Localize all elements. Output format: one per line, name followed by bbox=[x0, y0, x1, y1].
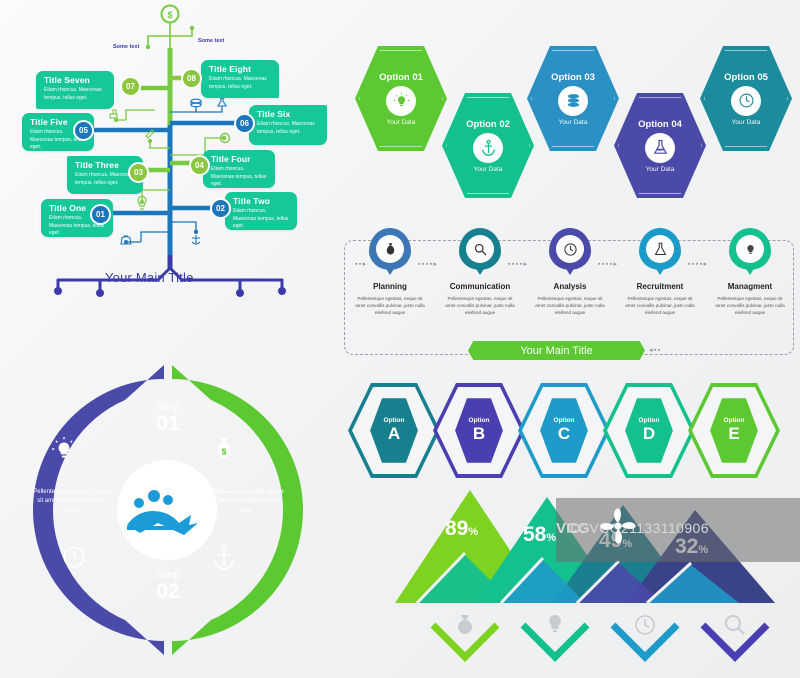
hex-label: Option 01 bbox=[379, 72, 423, 83]
tree-node-02[interactable]: 02 bbox=[210, 198, 231, 219]
tree-card-02[interactable]: Title Two Etiam rhoncus. Maecenas tempus… bbox=[225, 192, 297, 230]
hex-options-row: Option 01 Your Data Option 02 Your Data … bbox=[350, 38, 800, 198]
hex-letter: E bbox=[728, 425, 739, 443]
hex-letter-b[interactable]: Option B bbox=[433, 383, 525, 478]
flow-arrow: ▪▪▪▪▸ bbox=[508, 260, 528, 268]
tree-card-title: Title Three bbox=[75, 161, 136, 170]
process-step-name: Analysis bbox=[529, 282, 611, 291]
svg-text:$: $ bbox=[167, 10, 172, 20]
hex-sublabel: Your Data bbox=[732, 119, 761, 126]
tree-card-title: Title Seven bbox=[44, 76, 107, 85]
hex-option-5[interactable]: Option 05 Your Data bbox=[700, 46, 792, 151]
cycle-step-number: 02 bbox=[125, 581, 211, 603]
hex-letters-row: Option A Option B Option C Option D bbox=[348, 378, 800, 483]
tree-card-07[interactable]: Title Seven Etiam rhoncus. Maecenas temp… bbox=[36, 71, 114, 109]
hex-letter-e[interactable]: Option E bbox=[688, 383, 780, 478]
vcg-logo-icon bbox=[596, 504, 640, 548]
anchor-icon bbox=[473, 133, 503, 163]
process-step-desc: Pellentesque egestas, neque sit amet con… bbox=[532, 296, 608, 317]
flow-arrow: ▪▪▪▪▸ bbox=[418, 260, 438, 268]
hex-label: Option 02 bbox=[466, 119, 510, 130]
process-step-desc: Pellentesque egestas, neque sit amet con… bbox=[442, 296, 518, 317]
flow-arrow: ▪▪▪▪▸ bbox=[598, 260, 618, 268]
cycle-step-number: 01 bbox=[125, 413, 211, 435]
tree-label-right: Some text bbox=[198, 38, 224, 44]
lightbulb-icon bbox=[736, 235, 764, 263]
tree-node-07[interactable]: 07 bbox=[120, 76, 141, 97]
hex-letter: B bbox=[473, 425, 485, 443]
tree-card-body: Etiam rhoncus. Maecenas tempus, tellus e… bbox=[44, 87, 107, 102]
flask-icon bbox=[645, 133, 675, 163]
hex-option-4[interactable]: Option 04 Your Data bbox=[614, 93, 706, 198]
tree-node-04[interactable]: 04 bbox=[189, 155, 210, 176]
hex-letter-a[interactable]: Option A bbox=[348, 383, 440, 478]
money-bag-icon: $ bbox=[211, 436, 237, 467]
cycle-step-02[interactable]: Step 02 bbox=[125, 568, 211, 603]
process-pin-management[interactable] bbox=[729, 228, 771, 280]
hex-letter: A bbox=[388, 425, 400, 443]
tree-node-01[interactable]: 01 bbox=[90, 204, 111, 225]
chart-value-1: 89% bbox=[445, 517, 478, 541]
clock-icon bbox=[556, 235, 584, 263]
watermark-brand: VCG bbox=[556, 520, 590, 537]
hex-sublabel: Your Data bbox=[646, 166, 675, 173]
tree-node-05[interactable]: 05 bbox=[73, 120, 94, 141]
tree-card-04[interactable]: Title Four Etiam rhoncus. Maecenas tempu… bbox=[203, 150, 275, 188]
hex-label: Option 03 bbox=[551, 72, 595, 83]
chart-value-2: 58% bbox=[523, 523, 556, 547]
hex-sublabel: Your Data bbox=[559, 119, 588, 126]
hex-letter: D bbox=[643, 425, 655, 443]
tree-card-body: Etiam rhoncus. Maecenas tempus, tellus e… bbox=[209, 76, 272, 91]
flow-arrow: ▪▪▸ bbox=[355, 260, 368, 268]
process-step-desc: Pellentesque egestas, neque sit amet con… bbox=[352, 296, 428, 317]
hex-label: Option 05 bbox=[724, 72, 768, 83]
tree-card-title: Title Eight bbox=[209, 65, 272, 74]
money-bag-icon bbox=[376, 235, 404, 263]
process-step-name: Managment bbox=[709, 282, 791, 291]
tree-card-title: Title Two bbox=[233, 197, 290, 206]
clock-icon bbox=[731, 86, 761, 116]
tree-card-title: Title Six bbox=[257, 110, 320, 119]
hex-letter-c[interactable]: Option C bbox=[518, 383, 610, 478]
tree-main-title: Your Main Title bbox=[105, 270, 194, 285]
tree-card-title: Title Four bbox=[211, 155, 268, 164]
clock-icon bbox=[61, 544, 87, 575]
flow-arrow: ▪▪▪▪▸ bbox=[688, 260, 708, 268]
hex-option-3[interactable]: Option 03 Your Data bbox=[527, 46, 619, 151]
process-pin-recruitment[interactable] bbox=[639, 228, 681, 280]
svg-text:$: $ bbox=[222, 446, 227, 456]
process-step-desc: Pellentesque egestas, neque sit amet con… bbox=[622, 296, 698, 317]
process-main-banner[interactable]: Your Main Title bbox=[468, 341, 645, 360]
magnifier-icon bbox=[466, 235, 494, 263]
two-step-cycle: Step 01 Step 02 Pellentesque egestas, ne… bbox=[15, 360, 335, 660]
tree-node-06[interactable]: 06 bbox=[234, 113, 255, 134]
infographic-collection: $ bbox=[0, 0, 800, 678]
process-pin-communication[interactable] bbox=[459, 228, 501, 280]
cycle-step-01[interactable]: Step 01 bbox=[125, 400, 211, 435]
tree-infographic: $ bbox=[0, 0, 340, 300]
lightbulb-icon bbox=[386, 86, 416, 116]
hex-option-1[interactable]: Option 01 Your Data bbox=[355, 46, 447, 151]
hex-letter: C bbox=[558, 425, 570, 443]
tree-card-06[interactable]: Title Six Etiam rhoncus. Maecenas tempus… bbox=[249, 105, 327, 145]
tree-card-08[interactable]: Title Eight Etiam rhoncus. Maecenas temp… bbox=[201, 60, 279, 98]
cycle-text-right: Pellentesque egestas, neque sit amet con… bbox=[205, 488, 285, 516]
hex-sublabel: Your Data bbox=[474, 166, 503, 173]
hex-label: Option 04 bbox=[638, 119, 682, 130]
hex-letter-d[interactable]: Option D bbox=[603, 383, 695, 478]
anchor-icon bbox=[211, 544, 237, 575]
tree-card-body: Etiam rhoncus. Maecenas tempus, tellus e… bbox=[211, 166, 268, 188]
process-flow: ▪▪▸ ▪▪▪▪▸ ▪▪▪▪▸ ▪▪▪▪▸ ▪▪▪▪▸ Planning Pel… bbox=[340, 222, 800, 367]
tree-card-body: Etiam rhoncus. Maecenas tempus, tellus e… bbox=[233, 208, 290, 230]
banner-arrow: ◂▪▪ bbox=[649, 346, 662, 354]
tree-card-body: Etiam rhoncus. Maecenas tempus, tellus e… bbox=[75, 172, 136, 187]
process-pin-planning[interactable] bbox=[369, 228, 411, 280]
lightbulb-icon bbox=[51, 436, 77, 467]
tree-card-body: Etiam rhoncus. Maecenas tempus, tellus e… bbox=[257, 121, 320, 136]
tree-node-03[interactable]: 03 bbox=[128, 162, 149, 183]
flask-icon bbox=[646, 235, 674, 263]
process-step-desc: Pellentesque egestas, neque sit amet con… bbox=[712, 296, 788, 317]
database-icon bbox=[558, 86, 588, 116]
tree-node-08[interactable]: 08 bbox=[181, 68, 202, 89]
hex-option-2[interactable]: Option 02 Your Data bbox=[442, 93, 534, 198]
tree-label-left: Some text bbox=[113, 44, 139, 50]
process-step-name: Communication bbox=[439, 282, 521, 291]
process-pin-analysis[interactable] bbox=[549, 228, 591, 280]
process-step-name: Recruitment bbox=[619, 282, 701, 291]
process-step-name: Planning bbox=[349, 282, 431, 291]
hex-sublabel: Your Data bbox=[387, 119, 416, 126]
cycle-text-left: Pellentesque egestas, neque sit amet con… bbox=[32, 488, 112, 516]
